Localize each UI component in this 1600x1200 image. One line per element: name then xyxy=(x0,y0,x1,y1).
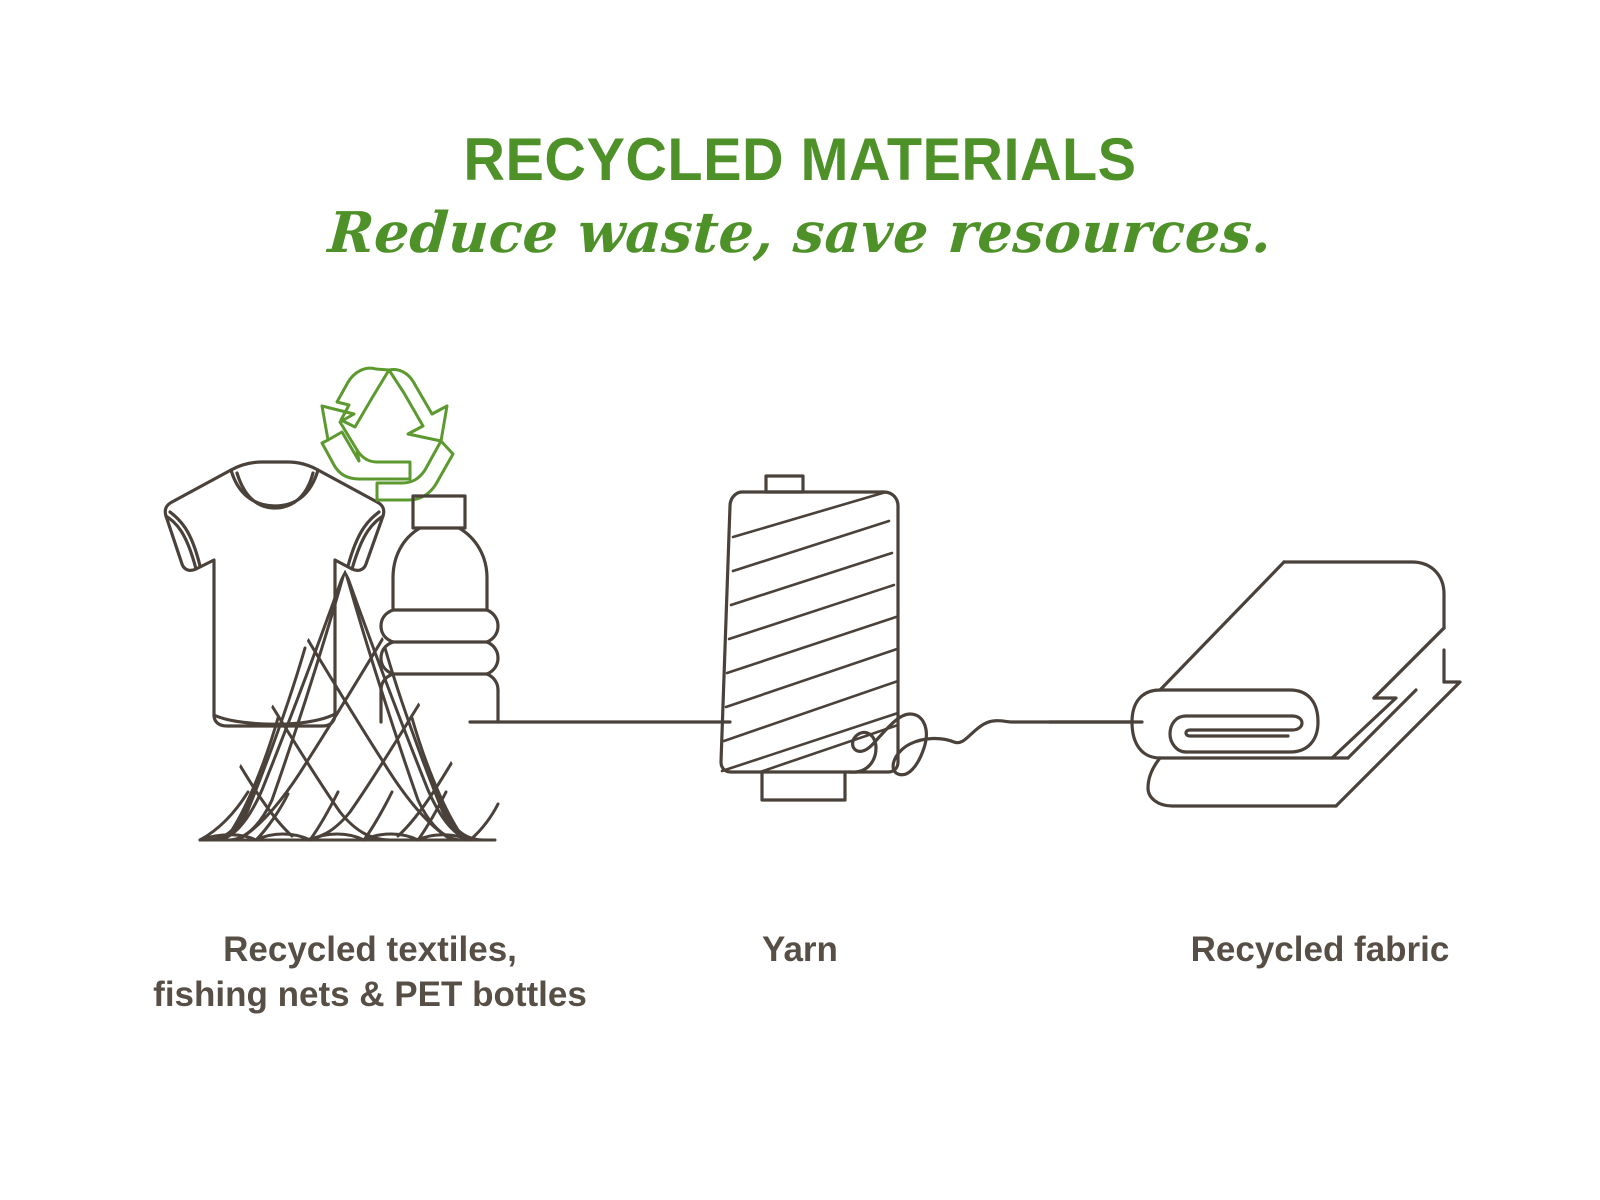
yarn-spool-icon xyxy=(721,476,898,800)
illustration-canvas xyxy=(0,0,1600,1200)
caption-recycled-textiles: Recycled textiles, fishing nets & PET bo… xyxy=(60,928,680,1018)
recycle-symbol-icon xyxy=(322,368,453,500)
caption-recycled-fabric: Recycled fabric xyxy=(1040,928,1600,973)
folded-fabric-icon xyxy=(1049,562,1460,806)
infographic-root: RECYCLED MATERIALS Reduce waste, save re… xyxy=(0,0,1600,1200)
caption-yarn: Yarn xyxy=(640,928,960,973)
